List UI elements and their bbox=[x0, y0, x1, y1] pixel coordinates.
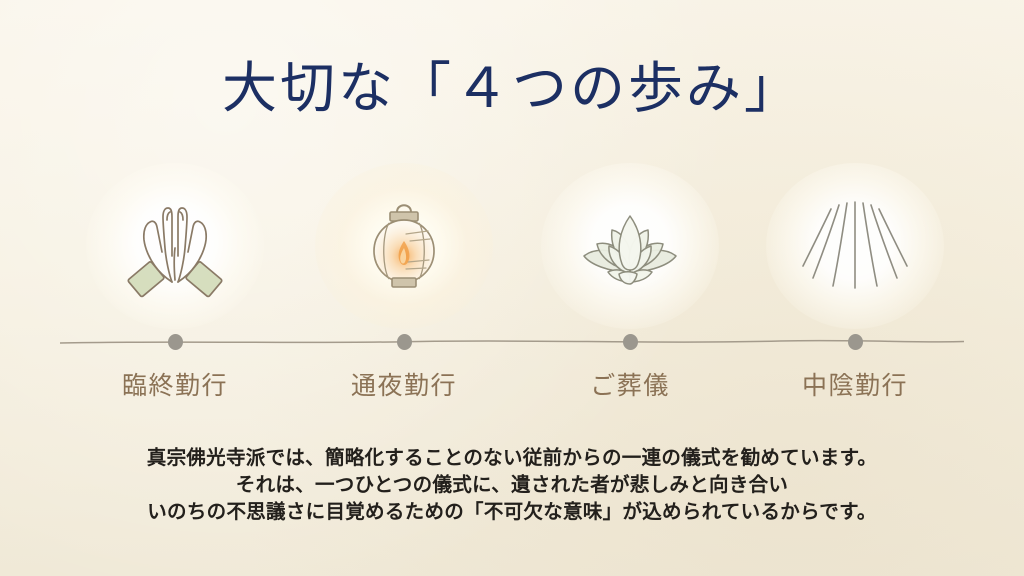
step-icon-3 bbox=[542, 166, 718, 326]
body-line-1: 真宗佛光寺派では、簡略化することのない従前からの一連の儀式を勧めています。 bbox=[0, 444, 1024, 471]
step-label-1: 臨終勤行 bbox=[65, 366, 285, 402]
page-title: 大切な「４つの歩み」 bbox=[222, 58, 802, 119]
praying-hands-icon bbox=[115, 186, 235, 306]
timeline-line bbox=[60, 334, 964, 350]
timeline-dot-1 bbox=[168, 334, 183, 350]
lotus-flower-icon bbox=[570, 186, 690, 306]
timeline-dot-2 bbox=[397, 334, 412, 350]
body-paragraph: 真宗佛光寺派では、簡略化することのない従前からの一連の儀式を勧めています。 それ… bbox=[0, 444, 1024, 525]
light-rays-icon bbox=[795, 186, 915, 306]
step-label-2: 通夜勤行 bbox=[294, 366, 514, 402]
icon-row bbox=[0, 166, 1024, 326]
body-line-3: いのちの不思議さに目覚めるための「不可欠な意味」が込められているからです。 bbox=[0, 498, 1024, 525]
step-icon-2 bbox=[316, 166, 492, 326]
step-icon-4 bbox=[767, 166, 943, 326]
step-label-4: 中陰勤行 bbox=[745, 366, 965, 402]
title-area: 大切な「４つの歩み」 bbox=[0, 58, 1024, 119]
step-labels: 臨終勤行 通夜勤行 ご葬儀 中陰勤行 bbox=[0, 366, 1024, 400]
step-icon-1 bbox=[87, 166, 263, 326]
timeline bbox=[60, 334, 964, 350]
timeline-dot-4 bbox=[848, 334, 863, 350]
paper-lantern-icon bbox=[344, 186, 464, 306]
slide-canvas: 大切な「４つの歩み」 bbox=[0, 0, 1024, 576]
body-line-2: それは、一つひとつの儀式に、遺された者が悲しみと向き合い bbox=[0, 471, 1024, 498]
step-label-3: ご葬儀 bbox=[520, 366, 740, 402]
timeline-dot-3 bbox=[623, 334, 638, 350]
